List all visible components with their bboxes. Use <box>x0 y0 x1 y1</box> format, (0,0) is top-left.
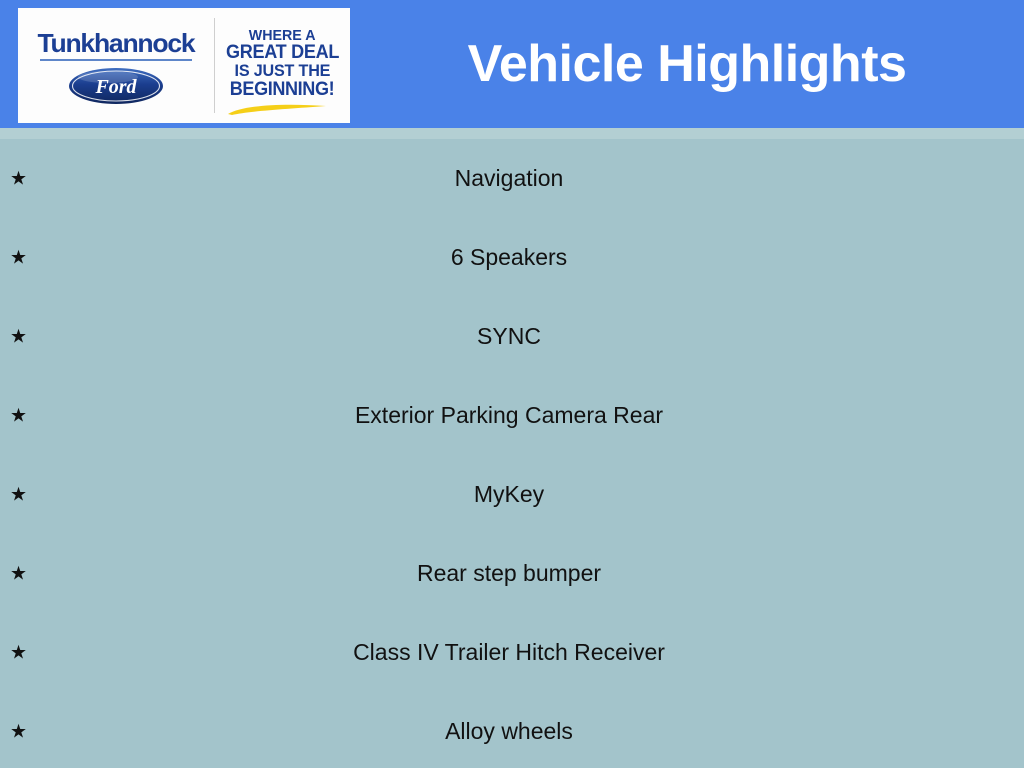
star-bullet-icon: ★ <box>10 406 30 425</box>
star-bullet-icon: ★ <box>10 564 30 583</box>
star-bullet-icon: ★ <box>10 327 30 346</box>
highlight-label: SYNC <box>0 325 1024 348</box>
highlight-label: Navigation <box>0 167 1024 190</box>
svg-text:Ford: Ford <box>94 76 137 98</box>
tagline-swoosh-icon <box>227 103 327 115</box>
highlight-label: Exterior Parking Camera Rear <box>0 404 1024 427</box>
dealer-name-underline <box>40 59 192 61</box>
highlight-label: 6 Speakers <box>0 246 1024 269</box>
header-underline-band <box>0 128 1024 139</box>
highlight-row: ★Exterior Parking Camera Rear <box>0 376 1024 455</box>
tagline-line-1: WHERE A <box>249 28 316 43</box>
highlight-label: Alloy wheels <box>0 720 1024 743</box>
star-bullet-icon: ★ <box>10 485 30 504</box>
highlight-row: ★Navigation <box>0 139 1024 218</box>
dealer-logo-left: Tunkhannock Ford <box>18 8 214 123</box>
star-bullet-icon: ★ <box>10 169 30 188</box>
highlight-label: Rear step bumper <box>0 562 1024 585</box>
star-bullet-icon: ★ <box>10 722 30 741</box>
highlight-row: ★Class IV Trailer Hitch Receiver <box>0 613 1024 692</box>
dealer-tagline: WHERE A GREAT DEAL IS JUST THE BEGINNING… <box>215 8 350 123</box>
ford-oval-icon: Ford <box>68 67 164 105</box>
highlight-row: ★Alloy wheels <box>0 692 1024 768</box>
page-title: Vehicle Highlights <box>350 0 1024 128</box>
tagline-line-2: GREAT DEAL <box>226 43 339 62</box>
highlight-row: ★SYNC <box>0 297 1024 376</box>
dealer-logo: Tunkhannock Ford WHERE A GREAT DEAL <box>18 8 350 123</box>
dealer-name-text: Tunkhannock <box>38 30 195 56</box>
vehicle-highlights-list: ★Navigation★6 Speakers★SYNC★Exterior Par… <box>0 139 1024 768</box>
highlight-label: Class IV Trailer Hitch Receiver <box>0 641 1024 664</box>
highlight-label: MyKey <box>0 483 1024 506</box>
highlight-row: ★Rear step bumper <box>0 534 1024 613</box>
star-bullet-icon: ★ <box>10 248 30 267</box>
tagline-line-3: IS JUST THE <box>235 62 331 79</box>
highlight-row: ★6 Speakers <box>0 218 1024 297</box>
tagline-line-4: BEGINNING! <box>230 80 335 99</box>
star-bullet-icon: ★ <box>10 643 30 662</box>
highlight-row: ★MyKey <box>0 455 1024 534</box>
